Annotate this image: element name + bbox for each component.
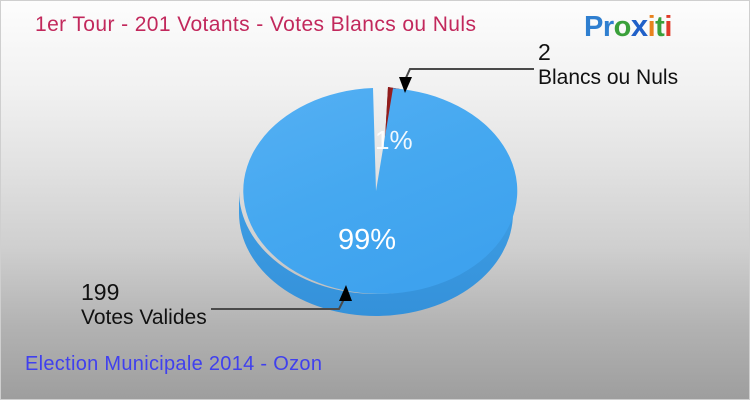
- chart-caption: Election Municipale 2014 - Ozon: [25, 353, 322, 376]
- callout-valides-value: 199: [81, 279, 207, 306]
- callout-blancs-value: 2: [538, 39, 678, 66]
- leader-line-blancs-ou-nuls: [399, 69, 534, 93]
- slice-label-blancs-ou-nuls: 1%: [375, 125, 413, 156]
- callout-blancs-ou-nuls: 2 Blancs ou Nuls: [538, 39, 678, 91]
- callout-blancs-label: Blancs ou Nuls: [538, 66, 678, 91]
- callout-valides-label: Votes Valides: [81, 306, 207, 331]
- pie-slice-top-votes-valides: [243, 88, 517, 294]
- callout-votes-valides: 199 Votes Valides: [81, 279, 207, 331]
- chart-canvas: 1er Tour - 201 Votants - Votes Blancs ou…: [0, 0, 750, 400]
- slice-label-votes-valides: 99%: [338, 224, 396, 257]
